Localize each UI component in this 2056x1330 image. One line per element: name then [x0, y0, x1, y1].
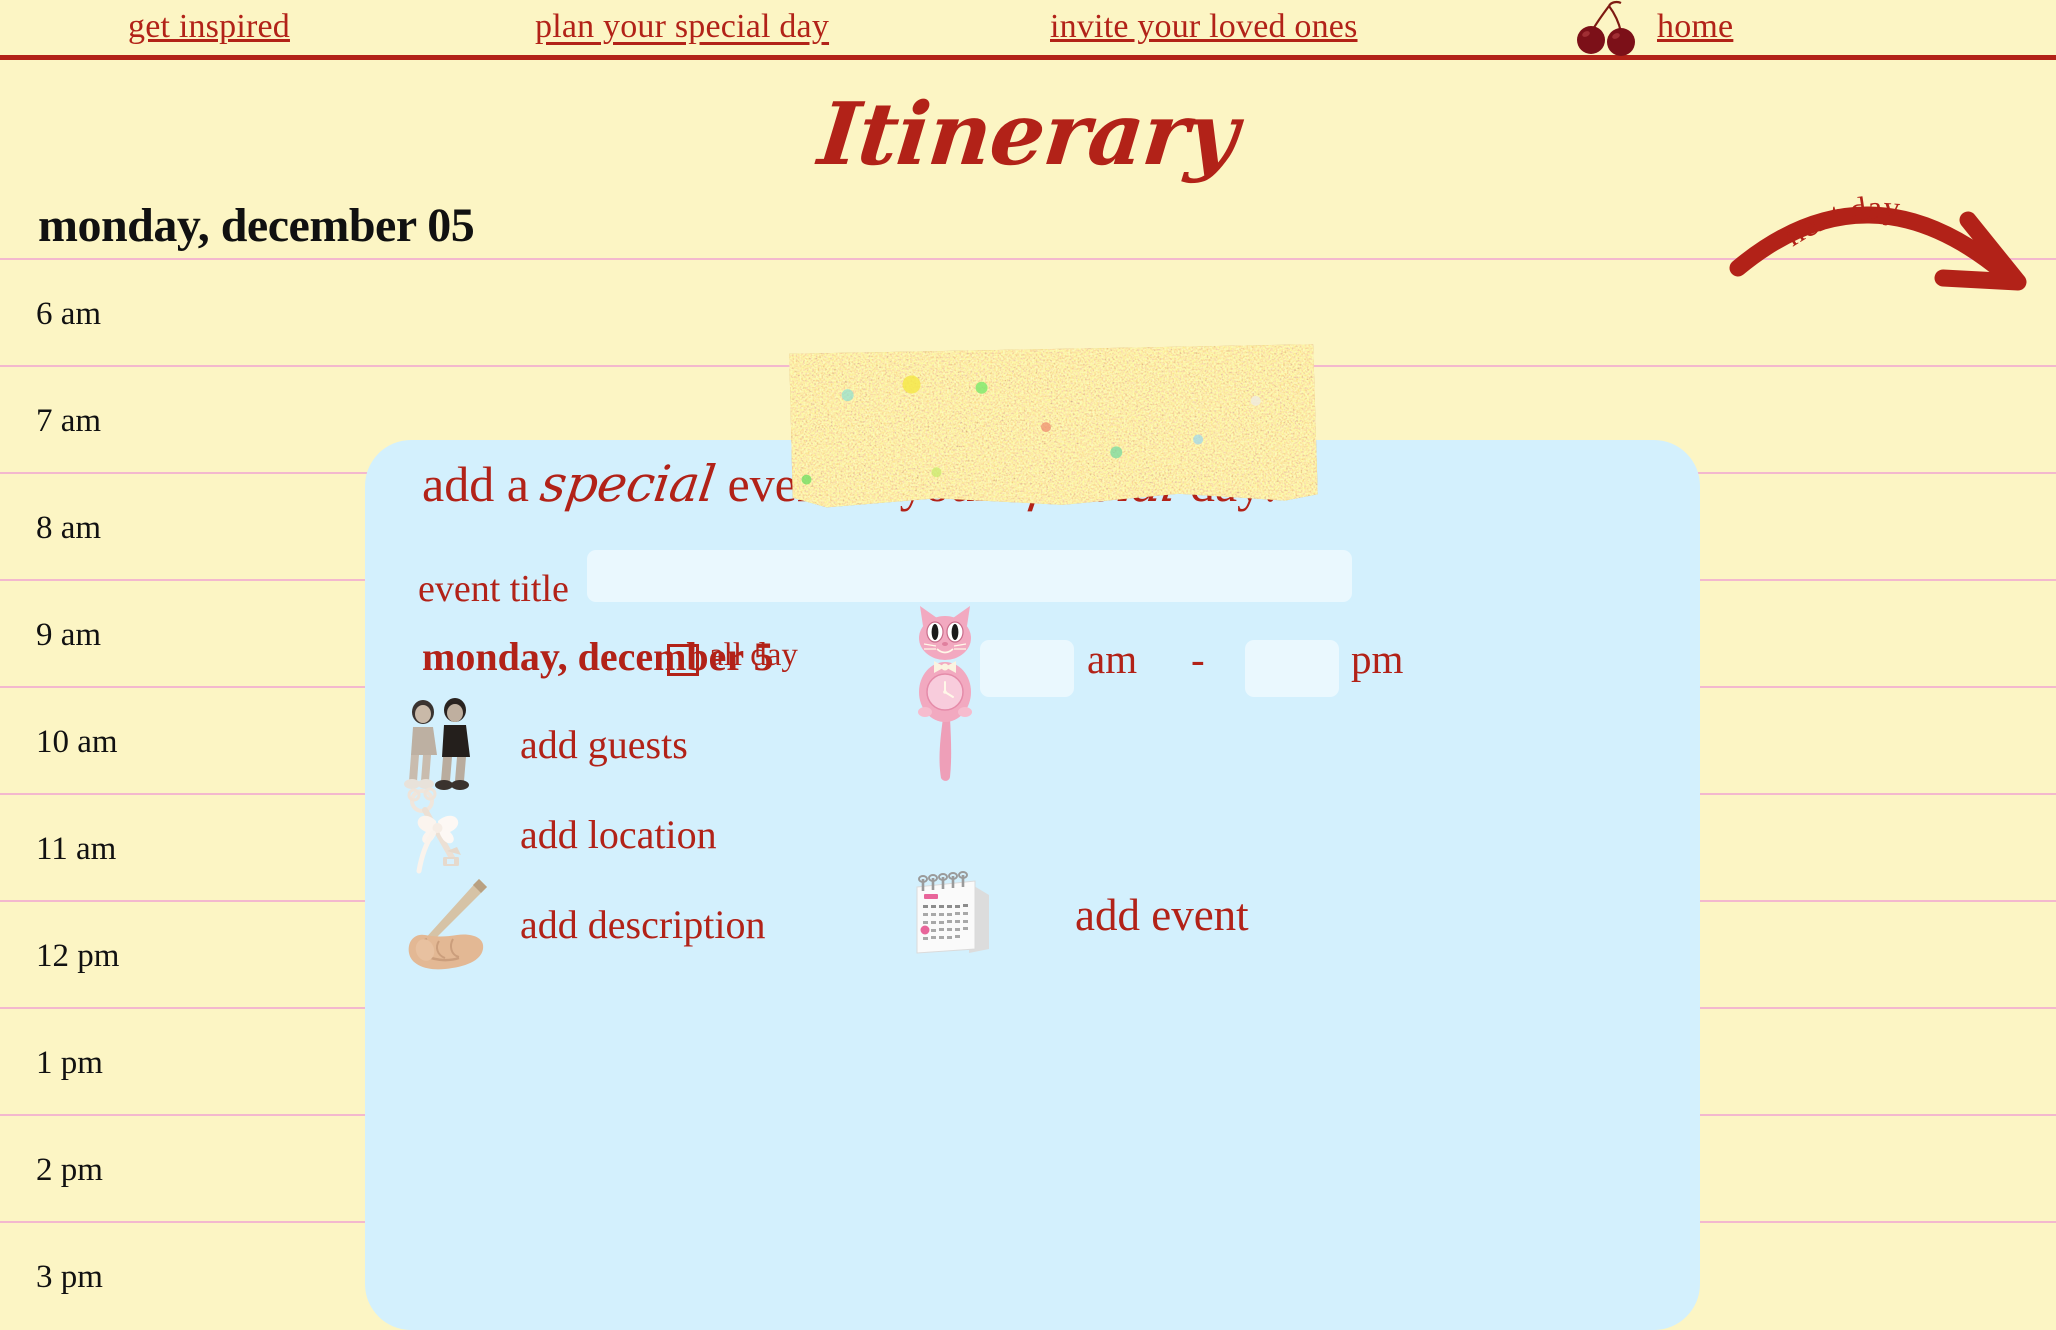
all-day-label: all day: [709, 637, 798, 674]
start-time-suffix: am: [1087, 635, 1137, 683]
cherries-icon: [1575, 0, 1655, 58]
hand-writing-pen-icon: [395, 875, 495, 971]
slot-time-label: 7 am: [36, 403, 101, 440]
key-with-bow-icon: [395, 785, 495, 881]
slot-time-label: 12 pm: [36, 938, 119, 975]
modal-heading-script1: special: [537, 455, 719, 513]
add-description-label[interactable]: add description: [520, 901, 766, 948]
next-day-label: next day: [1778, 190, 1902, 254]
end-time-suffix: pm: [1351, 635, 1403, 683]
slot-time-label: 8 am: [36, 510, 101, 547]
top-navigation: get inspired plan your special day invit…: [0, 0, 2056, 60]
slot-time-label: 1 pm: [36, 1045, 103, 1082]
nav-item-home[interactable]: home: [1657, 8, 1733, 46]
next-day-button[interactable]: next day: [1718, 150, 2056, 310]
nav-item-plan-your-special-day[interactable]: plan your special day: [535, 8, 829, 46]
add-event-label: add event: [1075, 889, 1249, 941]
slot-time-label: 6 am: [36, 296, 101, 333]
slot-time-label: 3 pm: [36, 1259, 103, 1296]
time-range-separator: -: [1191, 635, 1205, 683]
all-day-checkbox[interactable]: [667, 644, 699, 676]
slot-time-label: 11 am: [36, 831, 116, 868]
add-event-modal: add a special event to your special day!…: [365, 440, 1700, 1330]
modal-heading-part1: add a: [422, 456, 541, 512]
svg-text:next day: next day: [1778, 190, 1902, 254]
event-title-input[interactable]: [587, 550, 1352, 602]
event-title-label: event title: [418, 567, 569, 611]
desk-calendar-icon: [907, 865, 1003, 965]
add-guests-label[interactable]: add guests: [520, 721, 688, 768]
slot-time-label: 2 pm: [36, 1152, 103, 1189]
nav-item-invite-your-loved-ones[interactable]: invite your loved ones: [1050, 8, 1358, 46]
slot-time-label: 10 am: [36, 724, 118, 761]
glitter-tape-decoration: [785, 342, 1322, 513]
slot-time-label: 9 am: [36, 617, 101, 654]
add-location-label[interactable]: add location: [520, 811, 717, 858]
event-title-row: event title: [365, 550, 1700, 620]
cat-clock-icon: [910, 600, 980, 785]
date-heading: monday, december 05: [38, 198, 474, 253]
nav-item-get-inspired[interactable]: get inspired: [128, 8, 290, 46]
end-time-input[interactable]: [1245, 640, 1339, 697]
two-children-photo-icon: [395, 695, 495, 791]
add-event-button[interactable]: add event: [907, 865, 1307, 975]
add-guests-row[interactable]: add guests: [365, 695, 1005, 791]
start-time-input[interactable]: [980, 640, 1074, 697]
